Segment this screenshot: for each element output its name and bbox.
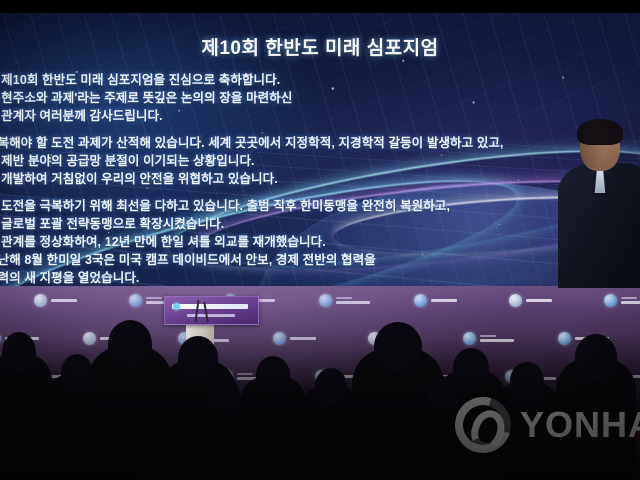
audience-head: [575, 334, 617, 380]
audience-head: [178, 336, 218, 380]
speech-line: 과 관계자 여러분께 감사드립니다.: [0, 109, 606, 124]
audience-head: [374, 322, 422, 372]
speaker-video-inset: [558, 119, 640, 288]
podium-sign-title-bar: [172, 304, 248, 309]
slide-speech-text: 는 제10회 한반도 미래 심포지엄을 진심으로 축하합니다. 의 현주소와 과…: [0, 73, 606, 288]
audience-head: [315, 368, 347, 404]
speech-line: 와 도전을 극복하기 위해 최선을 다하고 있습니다. 출범 직후 한미동맹을 …: [0, 199, 606, 214]
letterbox-bar-top: [0, 0, 640, 13]
speech-line: 협력의 새 지평을 열었습니다.: [0, 271, 606, 286]
speech-line: 의 현주소와 과제'라는 주제로 뜻깊은 논의의 장을 마련하신: [0, 91, 606, 106]
audience-head: [256, 356, 290, 394]
speech-line: 극복해야 할 도전 과제가 산적해 있습니다. 세계 곳곳에서 지정학적, 지경…: [0, 136, 606, 151]
slide-title: 제10회 한반도 미래 심포지엄: [0, 33, 640, 60]
audience-head: [2, 332, 36, 372]
speech-paragraph-gap: [0, 127, 606, 136]
yonhap-wordmark: YONHAP: [520, 407, 640, 443]
speech-line: 을 개발하여 거침없이 우리의 안전을 위협하고 있습니다.: [0, 172, 606, 187]
audience-head: [210, 378, 240, 410]
speech-line: 등 제반 분야의 공급망 분절이 이기되는 상황입니다.: [0, 154, 606, 169]
yonhap-watermark: YONHAP: [452, 394, 640, 456]
yonhap-swirl-icon: [452, 394, 514, 456]
photo-frame: 제10회 한반도 미래 심포지엄 는 제10회 한반도 미래 심포지엄을 진심으…: [0, 0, 640, 480]
speech-paragraph-gap: [0, 190, 606, 199]
audience-head: [453, 348, 489, 388]
speech-line: 일 관계를 정상화하여, 12년 만에 한일 셔틀 외교를 재개했습니다.: [0, 235, 606, 250]
speech-line: 한 글로벌 포괄 전략동맹으로 확장시켰습니다.: [0, 217, 606, 232]
speech-line: 지난해 8월 한미일 3국은 미국 캠프 데이비드에서 안보, 경제 전반의 협…: [0, 253, 606, 268]
audience-member: [196, 394, 254, 480]
presentation-screen: 제10회 한반도 미래 심포지엄 는 제10회 한반도 미래 심포지엄을 진심으…: [0, 11, 640, 288]
speech-line: 는 제10회 한반도 미래 심포지엄을 진심으로 축하합니다.: [0, 73, 606, 88]
speaker-hair: [577, 119, 623, 145]
audience-head: [108, 320, 152, 368]
audience-member: [0, 354, 52, 480]
podium-sign-emblem-icon: [173, 303, 180, 310]
podium-sign: [164, 296, 259, 325]
